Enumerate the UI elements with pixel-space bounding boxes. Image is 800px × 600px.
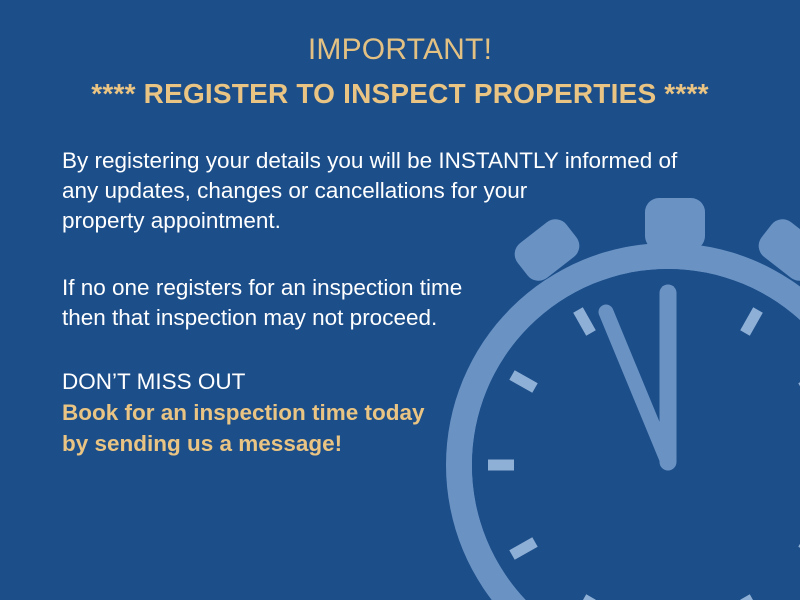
- body-paragraph-2: If no one registers for an inspection ti…: [62, 273, 582, 333]
- body-paragraph-1: By registering your details you will be …: [62, 146, 722, 236]
- headline-block: IMPORTANT! **** REGISTER TO INSPECT PROP…: [0, 30, 800, 114]
- slide-canvas: IMPORTANT! **** REGISTER TO INSPECT PROP…: [0, 0, 800, 600]
- headline-register-to-inspect: **** REGISTER TO INSPECT PROPERTIES ****: [0, 74, 800, 114]
- headline-important: IMPORTANT!: [0, 30, 800, 70]
- cta-book-inspection: Book for an inspection time today: [62, 397, 582, 428]
- call-to-action-block: DON’T MISS OUT Book for an inspection ti…: [62, 366, 582, 459]
- body-paragraph-1-block: By registering your details you will be …: [62, 146, 722, 236]
- slide-content: IMPORTANT! **** REGISTER TO INSPECT PROP…: [0, 0, 800, 600]
- cta-dont-miss-out: DON’T MISS OUT: [62, 366, 582, 397]
- cta-send-message: by sending us a message!: [62, 428, 582, 459]
